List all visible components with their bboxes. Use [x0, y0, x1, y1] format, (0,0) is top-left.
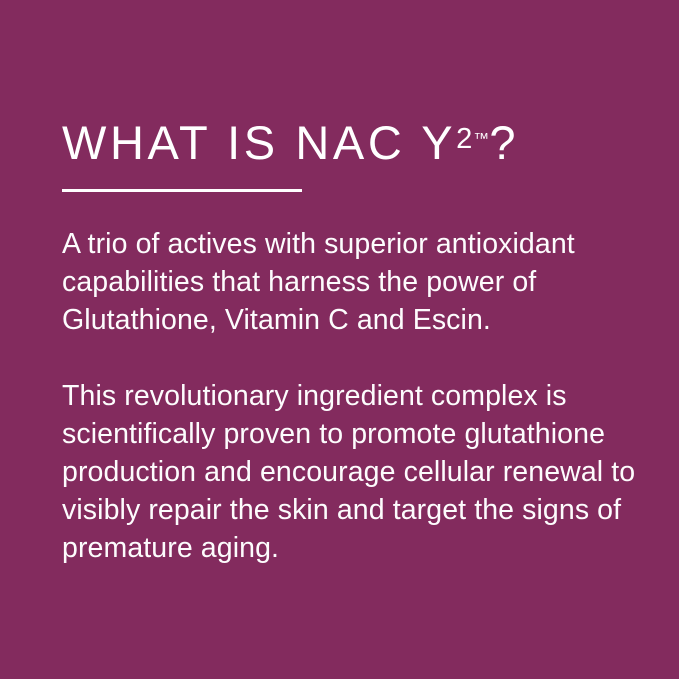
page-title-superscript-two: 2: [456, 123, 473, 155]
content-block: WHAT IS NAC Y2™? A trio of actives with …: [62, 118, 637, 567]
page-title-question-mark: ?: [489, 116, 515, 169]
description-block: A trio of actives with superior antioxid…: [62, 192, 637, 567]
description-paragraph-2: This revolutionary ingredient complex is…: [62, 377, 637, 567]
description-paragraph-1: A trio of actives with superior antioxid…: [62, 225, 637, 339]
page-title-main: WHAT IS NAC Y: [62, 116, 456, 169]
product-info-panel: WHAT IS NAC Y2™? A trio of actives with …: [0, 0, 679, 679]
page-title: WHAT IS NAC Y2™?: [62, 118, 637, 167]
trademark-icon: ™: [473, 131, 489, 148]
